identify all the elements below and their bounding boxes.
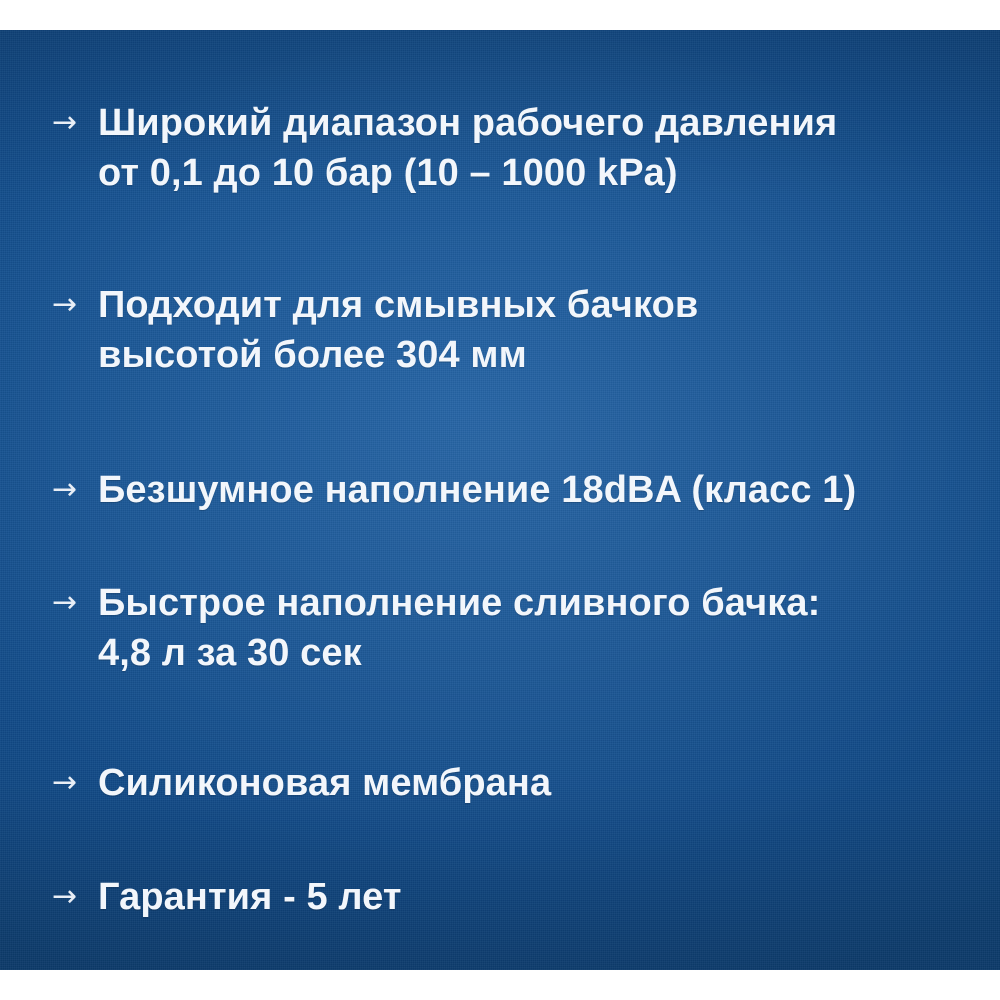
blue-feature-panel: → Широкий диапазон рабочего давления от …: [0, 30, 1000, 970]
feature-text: Подходит для смывных бачков высотой боле…: [98, 280, 962, 380]
arrow-right-icon: →: [52, 98, 98, 148]
list-item: → Гарантия - 5 лет: [52, 872, 962, 922]
list-item: → Силиконовая мембрана: [52, 758, 962, 808]
feature-text: Гарантия - 5 лет: [98, 872, 962, 922]
feature-text: Силиконовая мембрана: [98, 758, 962, 808]
arrow-right-icon: →: [52, 465, 98, 515]
list-item: → Быстрое наполнение сливного бачка: 4,8…: [52, 578, 962, 678]
list-item: → Безшумное наполнение 18dBA (класс 1): [52, 465, 962, 515]
arrow-right-icon: →: [52, 578, 98, 628]
feature-text: Широкий диапазон рабочего давления от 0,…: [98, 98, 962, 198]
feature-text: Быстрое наполнение сливного бачка: 4,8 л…: [98, 578, 962, 678]
feature-text: Безшумное наполнение 18dBA (класс 1): [98, 465, 962, 515]
arrow-right-icon: →: [52, 872, 98, 922]
list-item: → Широкий диапазон рабочего давления от …: [52, 98, 962, 198]
arrow-right-icon: →: [52, 280, 98, 330]
list-item: → Подходит для смывных бачков высотой бо…: [52, 280, 962, 380]
product-feature-card: → Широкий диапазон рабочего давления от …: [0, 0, 1000, 1000]
arrow-right-icon: →: [52, 758, 98, 808]
